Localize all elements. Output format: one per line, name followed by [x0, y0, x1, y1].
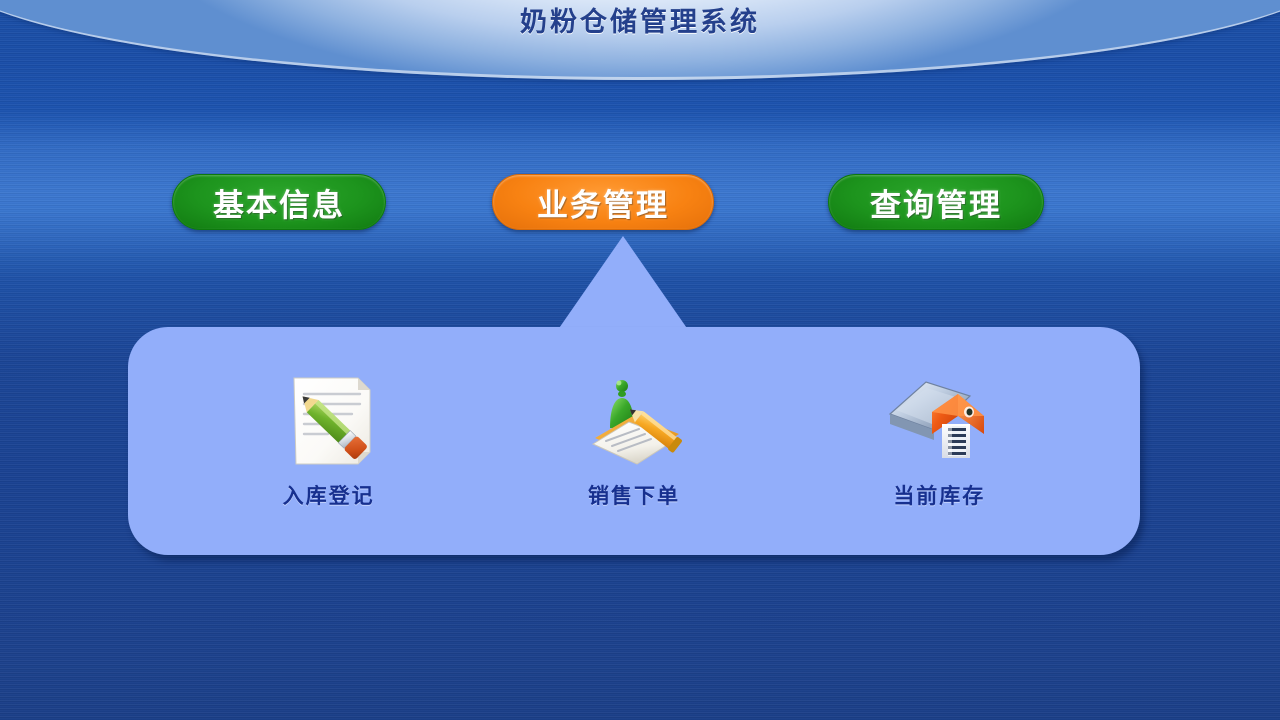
header-banner: 奶粉仓储管理系统: [0, 0, 1280, 80]
submenu-item-inbound-registration[interactable]: 入库登记: [214, 372, 444, 510]
app-window: 奶粉仓储管理系统 基本信息 业务管理 查询管理: [0, 0, 1280, 720]
submenu-item-label: 销售下单: [588, 480, 680, 510]
warehouse-folder-icon: [884, 372, 994, 472]
nav-item-label: 业务管理: [537, 180, 669, 225]
nav-item-query-management[interactable]: 查询管理: [828, 174, 1044, 230]
nav-item-label: 基本信息: [213, 180, 345, 225]
document-pencil-icon: [274, 372, 384, 472]
page-title: 奶粉仓储管理系统: [0, 0, 1280, 39]
submenu-panel: 入库登记: [128, 327, 1140, 555]
submenu-item-label: 入库登记: [283, 480, 375, 510]
nav-item-business-management[interactable]: 业务管理: [492, 174, 714, 230]
active-tab-pointer-triangle: [555, 236, 691, 334]
submenu-item-label: 当前库存: [893, 480, 985, 510]
main-nav: 基本信息 业务管理 查询管理: [0, 174, 1280, 232]
nav-item-label: 查询管理: [870, 180, 1002, 225]
submenu-item-sales-order[interactable]: 销售下单: [519, 372, 749, 510]
submenu-item-current-stock[interactable]: 当前库存: [824, 372, 1054, 510]
submenu-item-list: 入库登记: [128, 327, 1140, 555]
nav-item-basic-info[interactable]: 基本信息: [172, 174, 386, 230]
order-notepad-pencil-icon: [579, 372, 689, 472]
